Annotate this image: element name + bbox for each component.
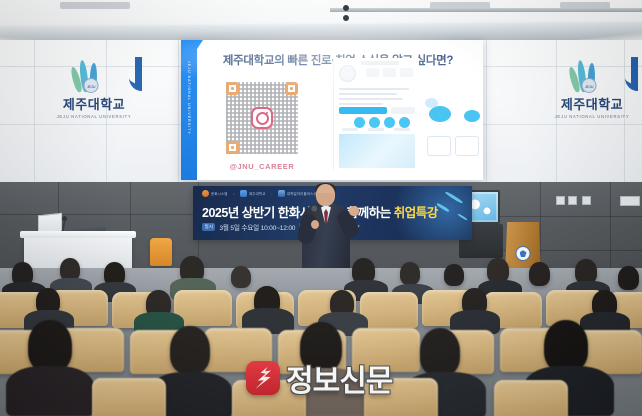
- decor-blob: [429, 106, 451, 122]
- university-name-en: JEJU NATIONAL UNIVERSITY: [46, 114, 142, 119]
- projection-screen: JEJU NATIONAL UNIVERSITY 제주대학교의 빠른 진로·취업…: [181, 40, 483, 180]
- profile-bio-line: [339, 93, 397, 95]
- story-highlight[interactable]: [384, 117, 395, 128]
- wall-panel-seam: [486, 216, 642, 217]
- wall-access-panel: [620, 196, 640, 206]
- story-highlight[interactable]: [369, 117, 380, 128]
- sponsor-separator: ×: [233, 191, 235, 196]
- jeongbo-sinmun-logo-icon: [246, 361, 280, 395]
- banner-title-main: 2025년 상반기 한화시스템과 함께하는: [202, 206, 394, 220]
- auditorium-seat: [92, 378, 166, 416]
- post-grid: [339, 134, 415, 168]
- university-name-en: JEJU NATIONAL UNIVERSITY: [546, 114, 638, 119]
- instagram-qr-code: [226, 82, 298, 154]
- profile-bio-line: [339, 103, 383, 105]
- ceiling-mount-dot: [343, 5, 349, 11]
- podium-top: [20, 231, 136, 238]
- university-flame-mark: JEJU: [546, 56, 638, 96]
- decor-blob: [425, 98, 438, 108]
- university-logo-right: JEJU 제주대학교 JEJU NATIONAL UNIVERSITY: [546, 56, 638, 119]
- decor-card: [427, 136, 451, 156]
- watermark-text: 정보신문: [286, 356, 392, 400]
- sponsor-separator: ×: [271, 191, 273, 196]
- profile-avatar: [339, 65, 356, 82]
- audience-head: [420, 328, 460, 376]
- sponsor-logo: 한화시스템: [202, 190, 228, 197]
- instagram-handle: @JNU_CAREER: [203, 162, 321, 171]
- light-switch-panel[interactable]: [582, 196, 591, 205]
- sponsor-logo: 제주대학교: [240, 190, 266, 197]
- qr-finder-icon: [285, 82, 298, 95]
- university-name-kr: 제주대학교: [546, 98, 638, 112]
- audience-head: [231, 266, 251, 288]
- datetime-label: 일시: [202, 223, 215, 231]
- university-flame-mark: JEJU: [46, 56, 142, 96]
- ceiling-vent: [60, 2, 130, 9]
- profile-follow-button[interactable]: [339, 107, 387, 114]
- seal-icon: JEJU: [84, 78, 99, 93]
- presenter-face-shadow: [317, 193, 334, 205]
- audience-head: [400, 262, 420, 285]
- decor-card: [455, 136, 479, 156]
- wall-panel-seam: [178, 40, 179, 182]
- university-name-kr: 제주대학교: [46, 98, 142, 112]
- auditorium-seat: [360, 292, 418, 328]
- light-switch-panel[interactable]: [568, 196, 577, 205]
- audience-head: [544, 320, 588, 372]
- profile-stat: [383, 68, 396, 77]
- sponsor-mark-icon: [240, 190, 247, 197]
- decor-blob: [464, 110, 480, 122]
- instagram-profile-mockup: [333, 58, 419, 170]
- sponsor-name: 한화시스템: [211, 191, 228, 196]
- projector-mount-rail: [330, 8, 642, 12]
- qr-finder-icon: [226, 82, 239, 95]
- story-highlight[interactable]: [354, 117, 365, 128]
- profile-stat: [400, 68, 413, 77]
- sponsor-mark-icon: [278, 190, 285, 197]
- sponsor-name: 제주대학교: [249, 191, 266, 196]
- profile-bio-line: [339, 98, 403, 100]
- profile-stat: [366, 68, 379, 77]
- profile-message-button[interactable]: [391, 107, 415, 114]
- audience-shoulders: [6, 366, 94, 416]
- instagram-icon: [251, 107, 273, 129]
- audience-head: [28, 320, 72, 372]
- light-switch-panel[interactable]: [556, 196, 565, 205]
- story-highlight[interactable]: [399, 117, 410, 128]
- letter-j-icon: [129, 57, 142, 91]
- wall-panel-seam: [34, 40, 35, 182]
- auditorium-seat: [494, 380, 568, 416]
- tab-icon[interactable]: [368, 128, 384, 131]
- orange-chair: [150, 238, 172, 266]
- university-emblem: [516, 246, 531, 261]
- audience-head: [170, 326, 210, 374]
- datetime-value: 3월 5일 수요일 10:00~12:00: [219, 222, 295, 232]
- audience-head: [444, 264, 464, 286]
- presenter: [300, 184, 352, 280]
- audience-head: [618, 266, 639, 290]
- sponsor-mark-icon: [202, 190, 209, 197]
- slide-side-bar: JEJU NATIONAL UNIVERSITY: [181, 40, 197, 180]
- wall-panel-seam: [486, 40, 487, 182]
- ceiling-mount-dot: [343, 15, 349, 21]
- letter-j-icon: [625, 57, 638, 91]
- slide-corner-tab: [181, 40, 203, 50]
- presenter-right-hand: [349, 206, 359, 216]
- seal-icon: JEJU: [582, 78, 597, 93]
- tab-icon[interactable]: [342, 128, 358, 131]
- university-logo-left: JEJU 제주대학교 JEJU NATIONAL UNIVERSITY: [46, 56, 142, 119]
- qr-finder-icon: [226, 141, 239, 154]
- tab-icon[interactable]: [394, 128, 410, 131]
- slide-side-vertical-text: JEJU NATIONAL UNIVERSITY: [187, 61, 191, 111]
- profile-name-line: [361, 61, 399, 65]
- wall-panel-seam: [0, 214, 200, 215]
- presenter-left-hand: [311, 220, 319, 229]
- audience-head: [529, 262, 550, 286]
- watermark: 정보신문: [246, 356, 392, 400]
- screenshot-scene: JEJU 제주대학교 JEJU NATIONAL UNIVERSITY JEJU…: [0, 0, 642, 416]
- profile-bio-line: [339, 88, 409, 90]
- banner-title-highlight: 취업특강: [394, 206, 438, 220]
